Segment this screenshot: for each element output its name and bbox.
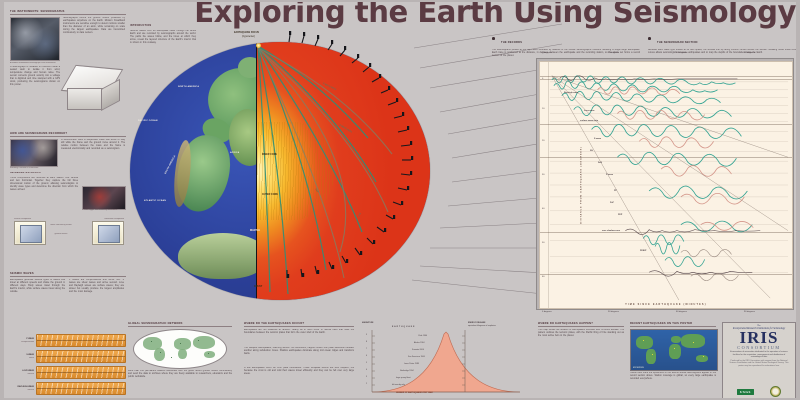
section-body: Yellow dots mark the epicenters of the e… [630,372,716,388]
focus-label: EARTHQUAKE FOCUS [234,32,259,34]
epicenter-dot [674,348,675,349]
section-body: Earthquakes generate several types of wa… [10,279,65,313]
event-label: Northridge 1994 [400,370,414,372]
magnitude-tick: 4 [366,369,367,371]
x-tick-label: 30 degrees [608,52,619,54]
block-front-face [67,88,104,110]
box-center-label: mass held still by inertia [48,224,74,227]
station-tick [352,58,358,63]
station-tick [377,227,384,232]
bottom-row: GLOBAL SEISMOGRAPHIC NETWORK More than 1… [4,320,796,398]
station-box [331,40,333,44]
box-left-label: Vertical component [14,218,44,221]
epicenter-dot [652,354,653,355]
section-body-2: P waves are compressional and arrive fir… [69,279,124,313]
magnitude-tick: 9 [366,334,367,336]
section-heading: THE INSTRUMENTS: SEISMOGRAPHS [10,10,126,15]
station-tick [315,266,317,274]
sub-heading: Seismometer basics [10,172,126,175]
event-label: large quarry blast [396,377,411,379]
station-box [396,98,398,102]
magnitude-tick: 7 [366,348,367,350]
y-tick-label: 40 [542,208,544,210]
station-box [384,228,386,232]
map-key-label: EPICENTERS [633,367,644,369]
section-body-3: A few earthquakes occur far from plate b… [244,367,354,385]
magnitude-tick: 5 [366,362,367,364]
x-tick-label: 60 degrees [676,52,687,54]
station-box [357,54,359,58]
magnitude-tick: 3 [366,376,367,378]
x-tick-label: 60 degrees [676,311,687,313]
section-seismic-waves: SEISMIC WAVES Earthquakes generate sever… [10,272,126,313]
seismometer-diagram-pair: Vertical component mass held still by in… [14,218,124,246]
station-box [369,63,371,67]
section-body: More than 150 permanent stations distrib… [128,370,232,386]
sensor-glyph [20,225,41,243]
phase-label: Love wave [584,110,595,112]
phase-label: PcP [610,202,614,204]
station-tick [381,90,388,93]
sensor-glyph [98,225,119,243]
section-heading: SEISMIC WAVES [10,272,126,277]
layer-label-mantle: MANTLE [250,230,260,233]
phase-label: P wave [606,174,613,176]
phase-label: PKIKP [640,250,646,252]
bullet-heading: THE RECORDS [492,30,640,48]
magnitude-tick: 2 [366,383,367,385]
station-tick [315,39,318,46]
station-dot [171,357,172,358]
seismogram-record-section-panel[interactable]: Rayleigh wave Love wave surface wave tra… [536,58,794,310]
section-heading: GLOBAL SEISMOGRAPHIC NETWORK [128,322,232,327]
event-label: San Francisco 1906 [408,356,425,358]
magnitude-curve [362,322,530,396]
station-box [317,35,319,39]
photo-caption: A modern broadband seismograph vault ins… [10,62,58,65]
surface-label-north-america: NORTH AMERICA [178,86,199,88]
event-label: felt nearby only [392,384,405,386]
station-box [346,259,348,263]
landmass-south-america [646,349,655,363]
section-heading: WHERE DO EARTHQUAKES HAPPEN? [538,322,624,327]
landmass-europe [671,336,681,343]
layer-label-crust: CRUST [254,286,262,289]
focus-sublabel: (hypocenter) [242,36,255,38]
section-global-network: GLOBAL SEISMOGRAPHIC NETWORK More than 1… [128,322,232,386]
landmass-shape [204,351,215,358]
event-label: Alaska 1964 [414,342,424,344]
y-tick-label: 30 [542,174,544,176]
y-axis-caption: DISTANCE FROM EARTHQUAKE (DEGREES) [581,146,583,223]
station-box [302,273,304,277]
station-box [289,31,291,35]
box-right-label: Horizontal component [94,218,124,221]
phase-label: ScS [598,162,602,164]
magnitude-energy-chart: MAGNITUDE EARTHQUAKE ENERGY RELEASE equi… [362,322,530,396]
layer-label-outer-core: OUTER CORE [262,194,278,197]
poster-canvas: Exploring the Earth Using Seismology THE… [4,2,796,398]
bullet-icon [492,37,495,40]
station-tick [289,35,290,42]
station-tick [388,102,396,105]
section-body-2: Three components are recorded at each st… [10,177,78,207]
section-recent-earthquakes-map: RECENT EARTHQUAKES ON THIS POSTER EPICEN… [630,322,716,388]
section-body: This map shows the location of earthquak… [538,329,624,369]
x-tick-label: 30 degrees [608,311,619,313]
station-dot [151,341,152,342]
borehole-photo [10,139,58,167]
section-heading: RECENT EARTHQUAKES ON THIS POSTER [630,322,716,327]
x-tick-label: 0 degrees [542,311,552,313]
seismogram-traces [540,62,792,308]
surface-label-atlantic: ATLANTIC OCEAN [144,200,166,202]
station-box [344,46,346,50]
landmass-shape [154,348,165,361]
block-diagram [63,66,123,112]
station-tick [328,44,332,50]
seismograph-photo [10,17,60,61]
station-box [379,74,381,78]
station-tick [342,256,346,263]
phase-label: PKP [618,214,622,216]
landmass-africa [669,344,681,358]
phase-label: surface wave train [580,120,598,122]
station-box [401,201,403,205]
station-tick [386,215,393,219]
station-box [303,32,305,36]
station-tick [394,116,402,118]
station-box [332,265,334,269]
world-epicenter-map: EPICENTERS [630,329,718,371]
event-label: Sumatra 2004 [412,349,424,351]
station-dot [198,340,199,341]
epicenter-dot [693,342,694,343]
y-tick-label: 60 [542,276,544,278]
landmass-asia [681,334,705,348]
section-where-earthquakes-occur: WHERE DO THE EARTHQUAKES OCCUR? Earthqua… [244,322,354,385]
x-tick-label: 90 degrees [744,311,755,313]
station-box [388,86,390,90]
logo-tagline: A consortium of universities dedicated t… [723,350,795,359]
seismogram-bottom-axis: 0 degrees 30 degrees 60 degrees 90 degre… [536,311,794,317]
horizontal-component-box [92,221,124,245]
event-label: Loma Prieta 1989 [404,363,419,365]
phase-label: S wave [594,138,601,140]
iris-logo-block: The Incorporated Research Institutions f… [722,322,796,398]
station-tick [302,36,304,43]
phase-label: core shadow zone [602,230,620,232]
y-tick-label: 10 [542,108,544,110]
x-tick-label: 0 degrees [542,52,552,54]
station-box [373,240,375,244]
datalogger-photo [82,186,126,210]
section-heading: HOW ARE SEISMOGRAMS RECORDED? [10,132,126,137]
nsf-seal-icon [770,386,781,397]
landmass-north-america [636,336,653,350]
seismogram-plot-area[interactable]: Rayleigh wave Love wave surface wave tra… [539,61,793,309]
station-tick [340,50,345,56]
vertical-component-box [14,221,46,245]
section-recording-earthquakes: THE INSTRUMENTS: SEISMOGRAPHS Seismograp… [10,10,126,112]
layer-label-inner-core: INNER CORE [262,154,277,157]
station-box [287,274,289,278]
section-body: A seismometer uses a suspended mass that… [61,139,125,165]
global-station-map [133,329,227,369]
station-dot [208,353,209,354]
station-tick [329,262,332,269]
event-label: Chile 1960 [418,335,427,337]
section-body-2: The deepest earthquakes, reaching almost… [244,347,354,365]
section-heading: WHERE DO THE EARTHQUAKES OCCUR? [244,322,354,327]
photo-caption: Installing a sensor in a borehole. [10,167,56,170]
magnitude-tick: 8 [366,341,367,343]
bullet-icon [648,37,651,40]
station-tick [355,248,360,255]
bullet-heading: THE SEISMOGRAM SECTION [648,30,796,48]
y-tick-label: 50 [542,242,544,244]
logo-credit: Produced by the IRIS Consortium with sup… [723,359,795,368]
station-tick [301,269,302,277]
station-dot [160,352,161,353]
landmass-shape [193,336,215,349]
phase-label: PP [614,190,617,192]
station-box [360,251,362,255]
iris-wordmark: IRIS [723,330,795,346]
phase-label: Rayleigh wave [564,92,578,94]
surface-label-pacific: PACIFIC OCEAN [138,120,158,122]
station-box [393,215,395,219]
energy-distribution-area [372,332,520,392]
section-body-2: A seismograph is installed on bedrock in… [10,66,60,112]
y-tick-label: 0 [542,78,543,80]
station-tick [372,78,379,82]
photo-caption-2: Data logger and telemetry electronics. [84,209,126,212]
surface-label-africa: AFRICA [230,152,239,154]
usgs-logo: USGS [737,389,754,395]
station-tick [363,67,369,72]
phase-label: SS [590,150,593,152]
box-center-sub: ground moves [48,233,74,236]
chart-footer: NUMBER OF EARTHQUAKES PER YEAR [396,392,433,394]
x-axis-caption: TIME SINCE EARTHQUAKE (MINUTES) [540,303,792,306]
landmass-shape [178,349,187,359]
left-column: THE INSTRUMENTS: SEISMOGRAPHS Seismograp… [10,10,126,310]
y-tick-label: 20 [542,140,544,142]
section-where-earthquakes-happen: WHERE DO EARTHQUAKES HAPPEN? This map sh… [538,322,624,369]
station-dot [180,343,181,344]
magnitude-tick: 6 [366,355,367,357]
station-box [317,270,319,274]
section-body-1: Earthquakes are not scattered at random.… [244,329,354,345]
station-tick [367,238,373,244]
station-tick [393,202,401,205]
x-tick-label: 90 degrees [744,52,755,54]
section-body: Seismographs record the ground motion pr… [63,17,125,59]
section-how-instruments-work: HOW ARE SEISMOGRAMS RECORDED? A seismome… [10,132,126,207]
section-magnitude-chart: MAGNITUDE EARTHQUAKE ENERGY RELEASE equi… [362,322,530,396]
